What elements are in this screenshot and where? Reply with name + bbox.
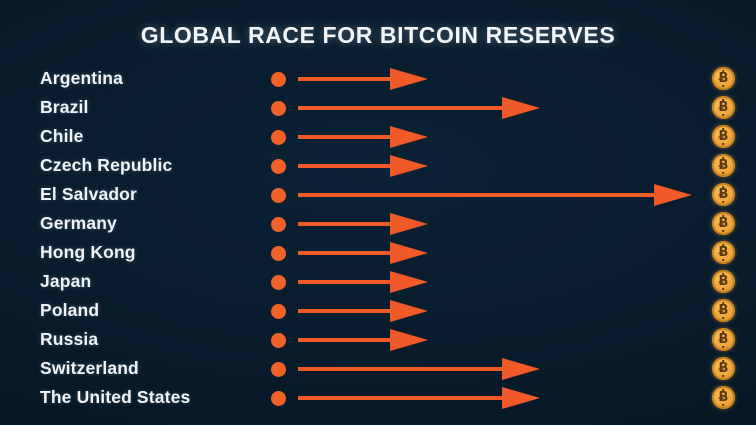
- arrow-shaft: [298, 164, 390, 168]
- arrow-shaft: [298, 106, 502, 110]
- bitcoin-coin-glyph: Ƀ: [719, 72, 729, 85]
- race-row: BrazilɃ: [0, 93, 756, 122]
- arrow-head: [390, 126, 428, 148]
- race-row: The United StatesɃ: [0, 383, 756, 412]
- start-dot-icon: [271, 101, 286, 116]
- bitcoin-coin-glyph: Ƀ: [719, 391, 729, 404]
- country-label: Russia: [40, 325, 98, 354]
- arrow-head: [390, 68, 428, 90]
- start-dot-icon: [271, 304, 286, 319]
- arrow-shaft: [298, 222, 390, 226]
- bitcoin-coin-icon: Ƀ: [712, 270, 735, 293]
- start-dot-icon: [271, 159, 286, 174]
- bitcoin-coin-glyph: Ƀ: [719, 217, 729, 230]
- bitcoin-coin-glyph: Ƀ: [719, 304, 729, 317]
- bitcoin-coin-icon: Ƀ: [712, 241, 735, 264]
- race-row: JapanɃ: [0, 267, 756, 296]
- bitcoin-coin-glyph: Ƀ: [719, 362, 729, 375]
- bitcoin-coin-glyph: Ƀ: [719, 159, 729, 172]
- page-title: GLOBAL RACE FOR BITCOIN RESERVES: [0, 22, 756, 49]
- race-row: Hong KongɃ: [0, 238, 756, 267]
- start-dot-icon: [271, 391, 286, 406]
- bitcoin-coin-glyph: Ƀ: [719, 188, 729, 201]
- arrow-shaft: [298, 367, 502, 371]
- bitcoin-coin-icon: Ƀ: [712, 386, 735, 409]
- country-label: Chile: [40, 122, 84, 151]
- bitcoin-coin-icon: Ƀ: [712, 357, 735, 380]
- arrow-shaft: [298, 77, 390, 81]
- race-row: ArgentinaɃ: [0, 64, 756, 93]
- start-dot-icon: [271, 130, 286, 145]
- start-dot-icon: [271, 72, 286, 87]
- race-row: GermanyɃ: [0, 209, 756, 238]
- arrow-shaft: [298, 338, 390, 342]
- bitcoin-coin-icon: Ƀ: [712, 125, 735, 148]
- arrow-head: [390, 329, 428, 351]
- race-row: PolandɃ: [0, 296, 756, 325]
- bitcoin-coin-icon: Ƀ: [712, 67, 735, 90]
- country-label: Japan: [40, 267, 91, 296]
- arrow-shaft: [298, 280, 390, 284]
- bitcoin-coin-icon: Ƀ: [712, 299, 735, 322]
- arrow-head: [390, 242, 428, 264]
- arrow-head: [390, 271, 428, 293]
- arrow-head: [654, 184, 692, 206]
- bitcoin-coin-glyph: Ƀ: [719, 101, 729, 114]
- start-dot-icon: [271, 217, 286, 232]
- bitcoin-coin-icon: Ƀ: [712, 212, 735, 235]
- bitcoin-coin-icon: Ƀ: [712, 154, 735, 177]
- start-dot-icon: [271, 246, 286, 261]
- race-row: SwitzerlandɃ: [0, 354, 756, 383]
- country-label: The United States: [40, 383, 190, 412]
- arrow-shaft: [298, 135, 390, 139]
- bitcoin-coin-glyph: Ƀ: [719, 275, 729, 288]
- arrow-shaft: [298, 396, 502, 400]
- race-row: RussiaɃ: [0, 325, 756, 354]
- arrow-head: [390, 300, 428, 322]
- bitcoin-coin-icon: Ƀ: [712, 96, 735, 119]
- country-label: Germany: [40, 209, 117, 238]
- arrow-head: [390, 213, 428, 235]
- race-row: Czech RepublicɃ: [0, 151, 756, 180]
- country-label: Switzerland: [40, 354, 139, 383]
- bitcoin-coin-glyph: Ƀ: [719, 130, 729, 143]
- country-label: El Salvador: [40, 180, 137, 209]
- start-dot-icon: [271, 275, 286, 290]
- bitcoin-coin-icon: Ƀ: [712, 183, 735, 206]
- arrow-head: [502, 387, 540, 409]
- arrow-shaft: [298, 251, 390, 255]
- arrow-shaft: [298, 193, 654, 197]
- bitcoin-coin-glyph: Ƀ: [719, 246, 729, 259]
- race-row: ChileɃ: [0, 122, 756, 151]
- country-label: Poland: [40, 296, 99, 325]
- country-label: Hong Kong: [40, 238, 136, 267]
- arrow-head: [502, 358, 540, 380]
- arrow-head: [502, 97, 540, 119]
- arrow-shaft: [298, 309, 390, 313]
- start-dot-icon: [271, 362, 286, 377]
- country-label: Brazil: [40, 93, 89, 122]
- start-dot-icon: [271, 333, 286, 348]
- arrow-head: [390, 155, 428, 177]
- bitcoin-coin-icon: Ƀ: [712, 328, 735, 351]
- start-dot-icon: [271, 188, 286, 203]
- country-label: Argentina: [40, 64, 123, 93]
- bitcoin-coin-glyph: Ƀ: [719, 333, 729, 346]
- race-rows-container: ArgentinaɃBrazilɃChileɃCzech RepublicɃEl…: [0, 64, 756, 412]
- country-label: Czech Republic: [40, 151, 172, 180]
- bitcoin-reserves-infographic: GLOBAL RACE FOR BITCOIN RESERVES Argenti…: [0, 0, 756, 425]
- race-row: El SalvadorɃ: [0, 180, 756, 209]
